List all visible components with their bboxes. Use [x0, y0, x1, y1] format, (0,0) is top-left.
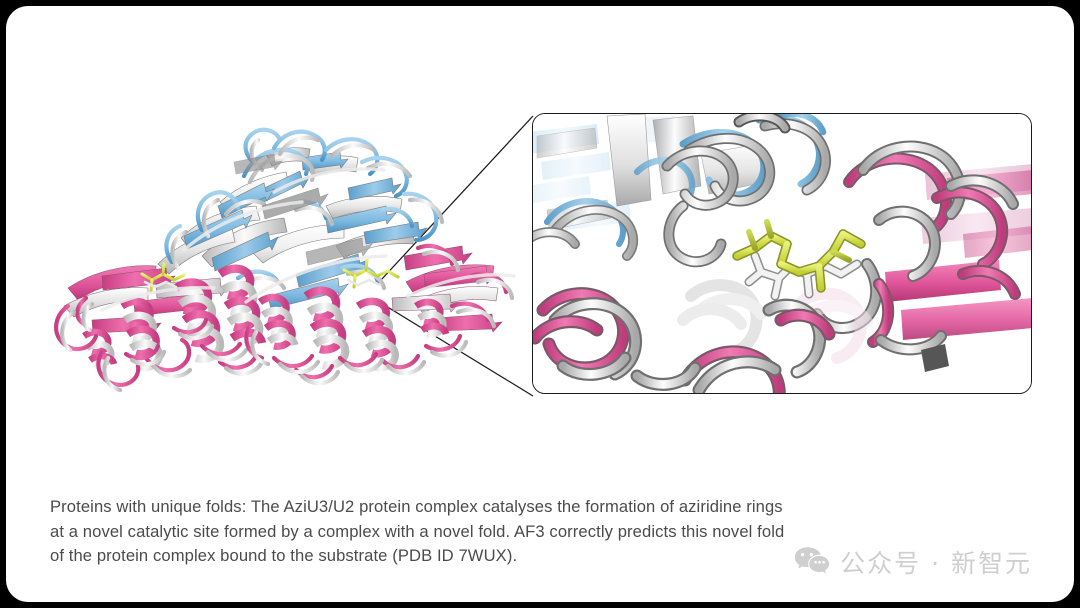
catalytic-site-inset[interactable]	[532, 113, 1032, 394]
protein-structure-figure	[6, 6, 1074, 476]
figure-card: Proteins with unique folds: The AziU3/U2…	[6, 6, 1074, 602]
chain-pink-right-domain	[246, 246, 512, 383]
chain-pink-left-domain	[56, 264, 262, 390]
figure-caption: Proteins with unique folds: The AziU3/U2…	[50, 495, 1010, 569]
catalytic-site-canvas	[533, 114, 1032, 394]
protein-complex-cartoon	[56, 130, 514, 390]
